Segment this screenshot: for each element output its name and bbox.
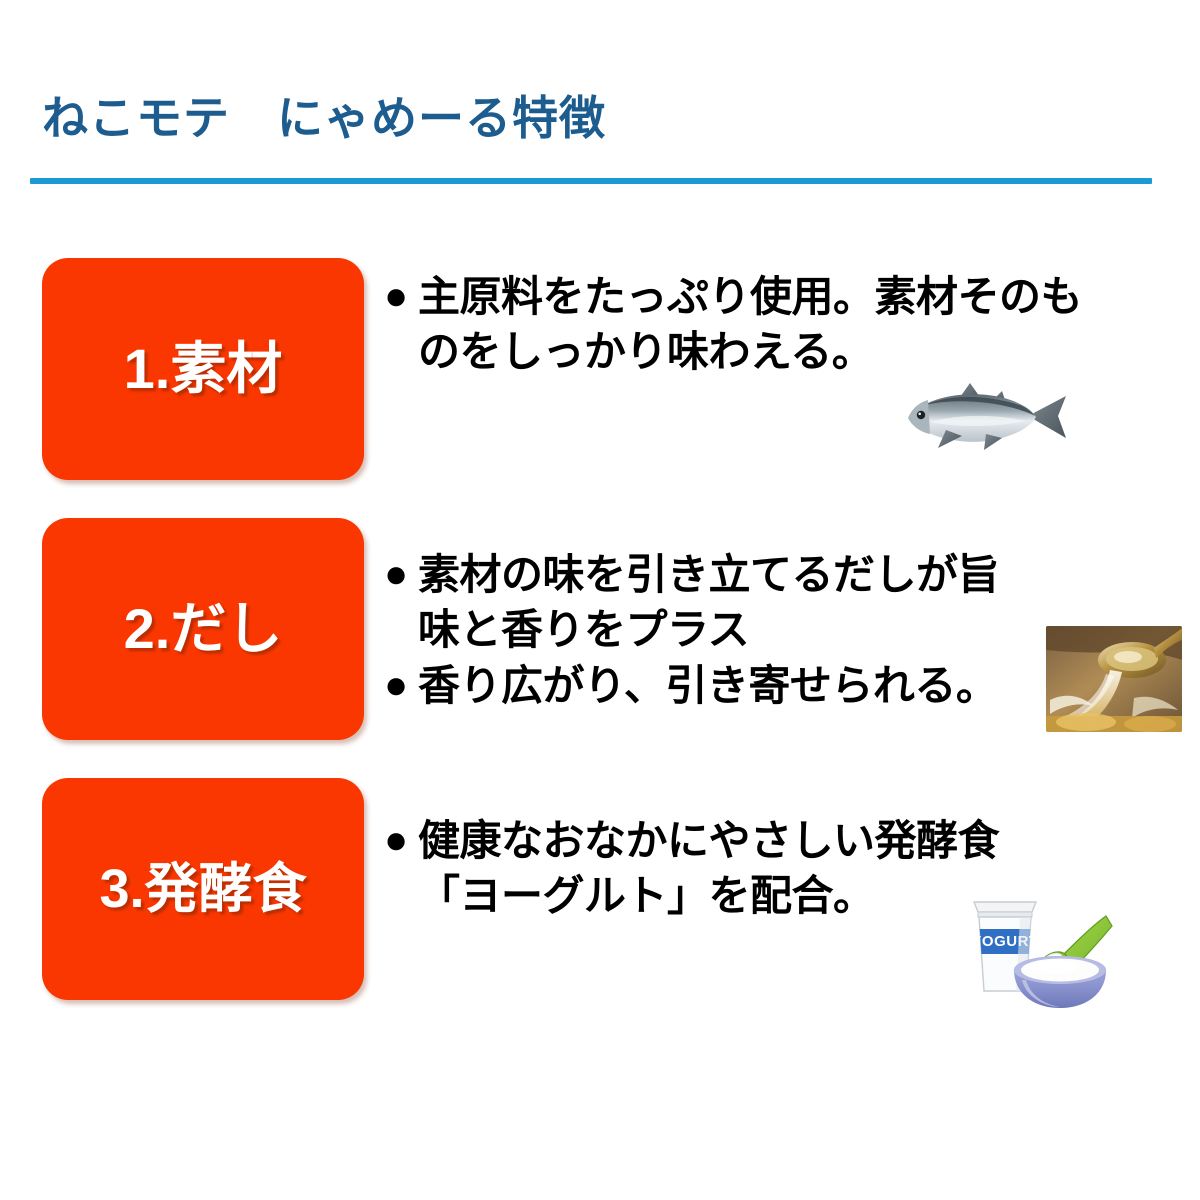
bullet-text: 素材の味を引き立てるだしが旨 味と香りをプラス	[418, 548, 1074, 657]
page-title: ねこモテ にゃめーる特徴	[42, 92, 606, 145]
feature-label-box-1[interactable]: 1.素材	[42, 258, 364, 480]
list-item: ● 主原料をたっぷり使用。素材そのも のをしっかり味わえる。	[384, 270, 1074, 379]
bullet-line: 味と香りをプラス	[418, 603, 1074, 658]
bullet-line: 素材の味を引き立てるだしが旨	[418, 548, 1074, 603]
feature-label-text-3: 3.発酵食	[99, 862, 306, 916]
feature-label-box-2[interactable]: 2.だし	[42, 518, 364, 740]
slide-canvas: ねこモテ にゃめーる特徴 1.素材 ● 主原料をたっぷり使用。素材そのも のをし…	[0, 0, 1200, 1200]
list-item: ● 素材の味を引き立てるだしが旨 味と香りをプラス	[384, 548, 1074, 657]
bullet-text: 香り広がり、引き寄せられる。	[418, 659, 1074, 714]
feature-bullets-2: ● 素材の味を引き立てるだしが旨 味と香りをプラス ● 香り広がり、引き寄せられ…	[384, 548, 1074, 716]
bullet-line: 香り広がり、引き寄せられる。	[418, 659, 1074, 714]
feature-label-box-3[interactable]: 3.発酵食	[42, 778, 364, 1000]
feature-bullets-1: ● 主原料をたっぷり使用。素材そのも のをしっかり味わえる。	[384, 270, 1074, 381]
feature-row-2: 2.だし ● 素材の味を引き立てるだしが旨 味と香りをプラス ● 香り広がり、引…	[0, 518, 1200, 758]
feature-label-text-1: 1.素材	[124, 341, 283, 397]
bullet-line: 主原料をたっぷり使用。素材そのも	[418, 270, 1082, 325]
dashi-broth-photo	[1046, 626, 1182, 732]
bullet-dot-icon: ●	[384, 548, 418, 601]
bullet-dot-icon: ●	[384, 814, 418, 867]
feature-label-text-2: 2.だし	[124, 601, 283, 657]
bullet-line: 健康なおなかにやさしい発酵食	[418, 814, 1074, 869]
bullet-dot-icon: ●	[384, 270, 418, 323]
title-divider-rule	[30, 178, 1152, 184]
list-item: ● 香り広がり、引き寄せられる。	[384, 659, 1074, 714]
bullet-text: 主原料をたっぷり使用。素材そのも のをしっかり味わえる。	[418, 270, 1082, 379]
tuna-fish-photo	[900, 378, 1070, 456]
bullet-dot-icon: ●	[384, 659, 418, 712]
yogurt-illustration: YOGURT	[956, 888, 1122, 1016]
bullet-line: のをしっかり味わえる。	[418, 325, 1082, 380]
